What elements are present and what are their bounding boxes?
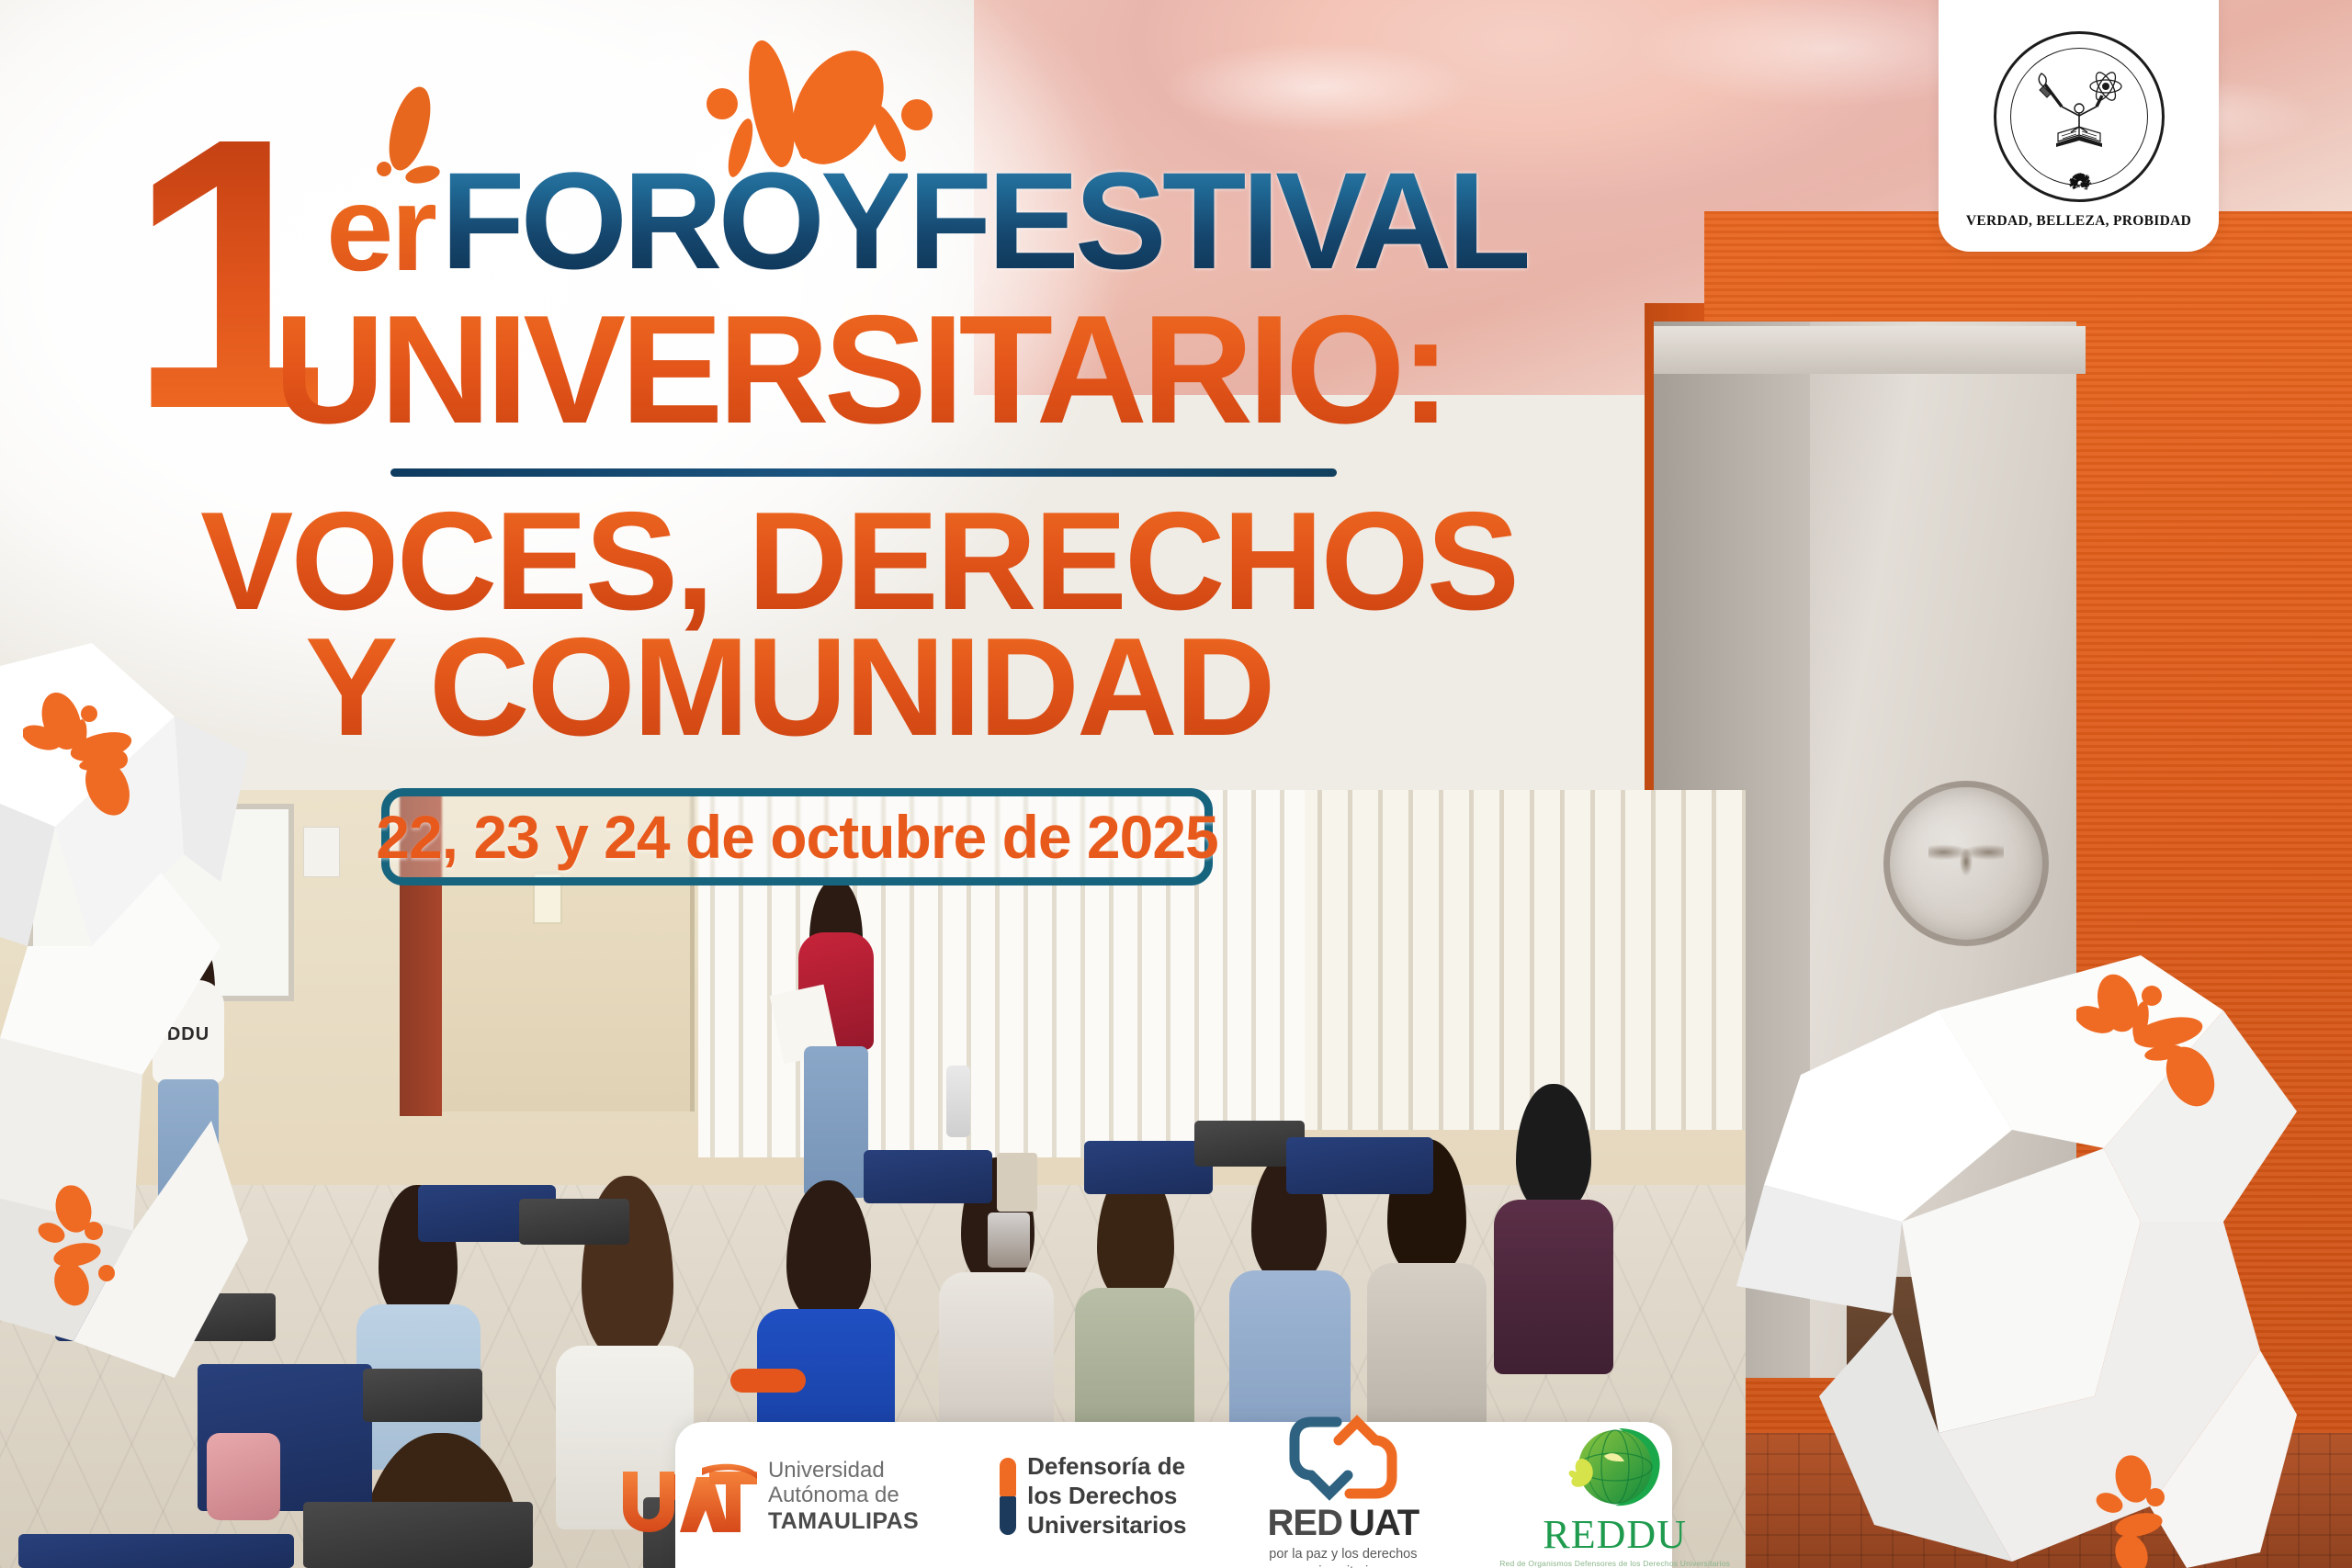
desk-tray-foreground	[303, 1502, 533, 1568]
logo-defensoria: Defensoría de los Derechos Universitario…	[1000, 1452, 1186, 1540]
hair	[786, 1180, 871, 1323]
red-uat-name-part-1: RED	[1268, 1503, 1342, 1544]
desk	[1084, 1141, 1213, 1194]
university-seal-card: VNIVERSIDAD AVTONOMA D TAMAVLIPAS	[1939, 0, 2219, 252]
logo-red-uat: RED UAT por la paz y los derechos univer…	[1268, 1413, 1419, 1568]
pillar-cap	[1654, 326, 2086, 374]
hair	[1516, 1084, 1591, 1213]
orange-splash-burst	[2095, 1451, 2214, 1568]
desk	[1286, 1137, 1433, 1194]
desk	[864, 1150, 992, 1203]
logo-uat: Universidad Autónoma de TAMAULIPAS	[617, 1457, 919, 1536]
def-line-3: Universitarios	[1027, 1511, 1186, 1540]
red-uat-wordmark: RED UAT	[1268, 1503, 1419, 1544]
seal-motto: VERDAD, BELLEZA, PROBIDAD	[1966, 213, 2191, 230]
uat-line-1: Universidad	[768, 1459, 919, 1483]
defensoria-wordmark: Defensoría de los Derechos Universitario…	[1027, 1452, 1186, 1540]
reddu-tagline: Red de Organismos Defensores de los Dere…	[1499, 1559, 1730, 1568]
logo-reddu: REDDU Red de Organismos Defensores de lo…	[1499, 1425, 1730, 1568]
word-festival: FESTIVAL	[908, 152, 1527, 289]
uat-monogram-mark-icon	[617, 1457, 757, 1536]
def-line-1: Defensoría de	[1027, 1452, 1186, 1482]
backpack	[207, 1433, 280, 1520]
uat-line-2: Autónoma de	[768, 1483, 919, 1508]
red-uat-interlock-mark-icon	[1289, 1413, 1397, 1501]
date-badge: 22, 23 y 24 de octubre de 2025	[381, 788, 1213, 886]
red-uat-tagline-line-2: universitarios	[1304, 1564, 1382, 1568]
headline-block: 1 er FOROY FESTIVAL	[0, 0, 1562, 919]
poster-root: DDU	[0, 0, 2352, 1568]
top	[939, 1272, 1054, 1442]
uat-line-3: TAMAULIPAS	[768, 1508, 919, 1534]
reddu-wordmark: REDDU	[1543, 1511, 1687, 1558]
desk-tray	[363, 1369, 482, 1422]
date-text: 22, 23 y 24 de octubre de 2025	[376, 802, 1218, 872]
bar-blue	[1000, 1496, 1016, 1535]
top	[1367, 1263, 1487, 1438]
defensoria-bars-mark-icon	[1000, 1458, 1016, 1535]
torch-atom-book-emblem-icon	[2025, 66, 2133, 154]
sponsor-logo-bar: Universidad Autónoma de TAMAULIPAS Defen…	[675, 1422, 1672, 1568]
bar-orange	[1000, 1458, 1016, 1496]
top	[1494, 1200, 1613, 1374]
stacked-books	[997, 1153, 1037, 1212]
headline-divider	[390, 468, 1337, 477]
uat-wordmark: Universidad Autónoma de TAMAULIPAS	[768, 1459, 919, 1534]
plastic-cup	[988, 1213, 1030, 1268]
desk-tray	[519, 1199, 629, 1245]
desk-foreground	[18, 1534, 294, 1568]
audience-member	[1488, 1084, 1635, 1470]
red-uat-tagline-line-1: por la paz y los derechos	[1269, 1547, 1417, 1562]
word-foro-y: FOROY	[441, 152, 908, 289]
orange-splash-burst	[37, 1185, 156, 1314]
reddu-globe-dove-mark-icon	[1564, 1425, 1667, 1513]
ordinal-suffix: er	[326, 168, 435, 289]
water-bottle	[946, 1066, 970, 1137]
red-uat-name-part-2: UAT	[1349, 1503, 1419, 1544]
orange-pouch	[730, 1369, 806, 1393]
def-line-2: los Derechos	[1027, 1482, 1186, 1511]
red-uat-tagline: por la paz y los derechos universitarios	[1269, 1546, 1417, 1568]
jeans	[804, 1046, 868, 1198]
seal-circle: VNIVERSIDAD AVTONOMA D TAMAVLIPAS	[1994, 31, 2165, 202]
orange-splash-burst	[2076, 964, 2242, 1121]
headline-universitario: UNIVERSITARIO:	[274, 292, 1446, 446]
headline-line-1: er FOROY FESTIVAL	[326, 152, 1527, 289]
subtitle-line-2: Y COMUNIDAD	[305, 617, 1273, 757]
